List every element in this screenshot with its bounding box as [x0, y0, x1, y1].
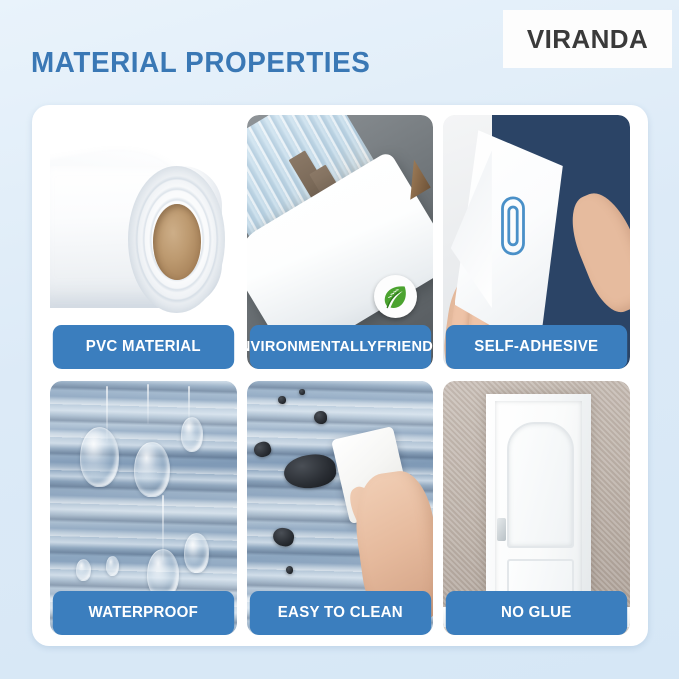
water-drop-3 — [181, 417, 204, 452]
door-panel-top-shape — [507, 422, 574, 548]
feature-label-pvc-material: PVC MATERIAL — [53, 325, 234, 369]
water-drop-5 — [184, 533, 208, 573]
feature-card-pvc-material[interactable]: PVC MATERIAL — [50, 115, 237, 369]
water-streak-2 — [147, 384, 149, 425]
brand-logo-box: VIRANDA — [503, 10, 672, 68]
water-drop-6 — [76, 559, 91, 581]
brand-name: VIRANDA — [527, 24, 648, 55]
features-grid: PVC MATERIAL — [50, 115, 630, 635]
feature-label-waterproof: WATERPROOF — [53, 591, 234, 635]
water-drop-2 — [134, 442, 170, 497]
features-panel: PVC MATERIAL — [32, 105, 648, 646]
stain-shape-6 — [286, 566, 293, 574]
feature-label-environmentally-friendly: ENVIRONMENTALLYFRIENDLY — [249, 325, 430, 369]
stain-shape-4 — [278, 396, 285, 404]
feature-card-waterproof[interactable]: WATERPROOF — [50, 381, 237, 635]
feature-card-environmentally-friendly[interactable]: ENVIRONMENTALLYFRIENDLY — [247, 115, 434, 369]
stain-shape-5 — [299, 389, 305, 395]
feature-label-no-glue: NO GLUE — [446, 591, 627, 635]
page-title: MATERIAL PROPERTIES — [31, 47, 370, 80]
feature-card-no-glue[interactable]: NO GLUE — [443, 381, 630, 635]
water-drop-1 — [80, 427, 119, 487]
feature-card-self-adhesive[interactable]: SELF-ADHESIVE — [443, 115, 630, 369]
feature-label-self-adhesive: SELF-ADHESIVE — [446, 325, 627, 369]
paperclip-icon — [499, 184, 527, 268]
door-handle-shape — [497, 518, 506, 541]
feature-label-easy-to-clean: EASY TO CLEAN — [249, 591, 430, 635]
stain-shape-3 — [314, 411, 327, 424]
water-drop-7 — [106, 556, 119, 576]
feature-card-easy-to-clean[interactable]: EASY TO CLEAN — [247, 381, 434, 635]
roll-core-shape — [153, 204, 202, 280]
leaf-icon — [374, 275, 417, 318]
